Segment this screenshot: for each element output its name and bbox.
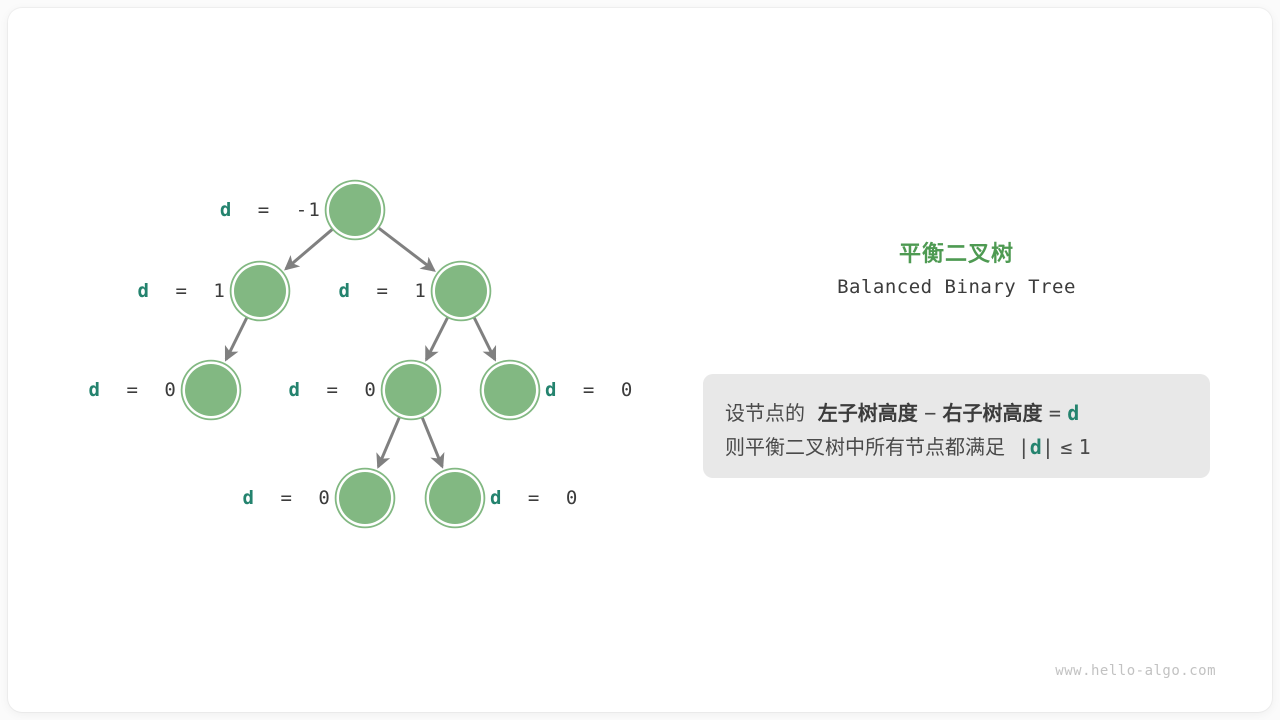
abs-close-bar: | <box>1042 435 1054 459</box>
balance-token <box>150 280 175 302</box>
page-subtitle: Balanced Binary Tree <box>703 276 1210 298</box>
tree-edge <box>226 317 247 360</box>
abs-open-bar: | <box>1018 435 1030 459</box>
balance-token <box>351 280 376 302</box>
equals-sign: = <box>1049 401 1061 425</box>
minus-sign: − <box>924 401 936 425</box>
definition-box: 设节点的 左子树高度 − 右子树高度 = d 则平衡二叉树中所有节点都满足 |d… <box>703 374 1210 478</box>
tree-edges-layer <box>8 8 708 720</box>
balance-token: -1 <box>296 199 321 221</box>
tree-node[interactable] <box>385 364 437 416</box>
variable-d-abs: d <box>1030 435 1042 459</box>
balance-token <box>389 280 414 302</box>
balance-token <box>293 487 318 509</box>
balance-token: = <box>528 487 541 509</box>
tree-edge <box>474 317 495 360</box>
balance-token: 0 <box>164 379 177 401</box>
less-equal-sign: ≤ <box>1060 435 1072 459</box>
tree-node[interactable] <box>339 472 391 524</box>
balance-token: 0 <box>621 379 634 401</box>
tree-edge <box>426 317 448 360</box>
balance-token: = <box>376 280 389 302</box>
node-balance-label: d = 0 <box>89 379 177 401</box>
node-balance-label: d = 0 <box>490 487 578 509</box>
tree-edge-group <box>226 228 495 467</box>
balance-token <box>503 487 528 509</box>
definition-term-left: 左子树高度 <box>818 401 918 425</box>
balance-variable: d <box>490 487 503 509</box>
balance-token: 1 <box>213 280 226 302</box>
balance-token <box>558 379 583 401</box>
definition-line-1: 设节点的 左子树高度 − 右子树高度 = d <box>725 397 1079 426</box>
node-balance-label: d = 0 <box>243 487 331 509</box>
tree-edge <box>378 417 399 467</box>
content-card: d = -1d = 1d = 1d = 0d = 0d = 0d = 0d = … <box>8 8 1272 712</box>
node-balance-label: d = -1 <box>220 199 321 221</box>
tree-node[interactable] <box>234 265 286 317</box>
page-title: 平衡二叉树 <box>703 236 1210 268</box>
balance-token <box>101 379 126 401</box>
definition-prefix: 设节点的 <box>725 401 805 425</box>
tree-node[interactable] <box>429 472 481 524</box>
balance-variable: d <box>243 487 256 509</box>
balance-token: 0 <box>364 379 377 401</box>
balance-token: = <box>175 280 188 302</box>
balance-variable: d <box>289 379 302 401</box>
balance-variable: d <box>545 379 558 401</box>
condition-prefix: 则平衡二叉树中所有节点都满足 <box>725 435 1005 459</box>
balance-variable: d <box>89 379 102 401</box>
variable-d: d <box>1067 401 1079 425</box>
balance-token: 1 <box>414 280 427 302</box>
balance-token <box>233 199 258 221</box>
tree-node[interactable] <box>329 184 381 236</box>
balance-variable: d <box>220 199 233 221</box>
balance-token: 0 <box>318 487 331 509</box>
node-balance-label: d = 0 <box>289 379 377 401</box>
balance-token: = <box>326 379 339 401</box>
balance-variable: d <box>339 280 352 302</box>
node-balance-label: d = 0 <box>545 379 633 401</box>
definition-line-2: 则平衡二叉树中所有节点都满足 |d| ≤ 1 <box>725 431 1091 460</box>
tree-node[interactable] <box>484 364 536 416</box>
balance-token: = <box>258 199 271 221</box>
tree-edge <box>378 228 434 271</box>
watermark-url: www.hello-algo.com <box>1055 663 1216 679</box>
definition-term-right: 右子树高度 <box>942 401 1042 425</box>
balance-token <box>541 487 566 509</box>
balance-token: = <box>280 487 293 509</box>
balance-token: = <box>126 379 139 401</box>
bound-value: 1 <box>1079 435 1091 459</box>
balance-token: 0 <box>566 487 579 509</box>
balance-token <box>139 379 164 401</box>
balance-variable: d <box>138 280 151 302</box>
node-balance-label: d = 1 <box>138 280 226 302</box>
tree-edge <box>286 229 333 269</box>
balance-token <box>188 280 213 302</box>
balance-token <box>270 199 295 221</box>
balance-token <box>596 379 621 401</box>
info-panel: 平衡二叉树 Balanced Binary Tree 设节点的 左子树高度 − … <box>703 8 1213 720</box>
screenshot-canvas: d = -1d = 1d = 1d = 0d = 0d = 0d = 0d = … <box>0 0 1280 720</box>
balance-token: = <box>583 379 596 401</box>
binary-tree-diagram: d = -1d = 1d = 1d = 0d = 0d = 0d = 0d = … <box>8 8 708 720</box>
node-balance-label: d = 1 <box>339 280 427 302</box>
balance-token <box>339 379 364 401</box>
tree-node[interactable] <box>435 265 487 317</box>
tree-edge <box>422 417 442 467</box>
balance-token <box>255 487 280 509</box>
tree-node[interactable] <box>185 364 237 416</box>
balance-token <box>301 379 326 401</box>
